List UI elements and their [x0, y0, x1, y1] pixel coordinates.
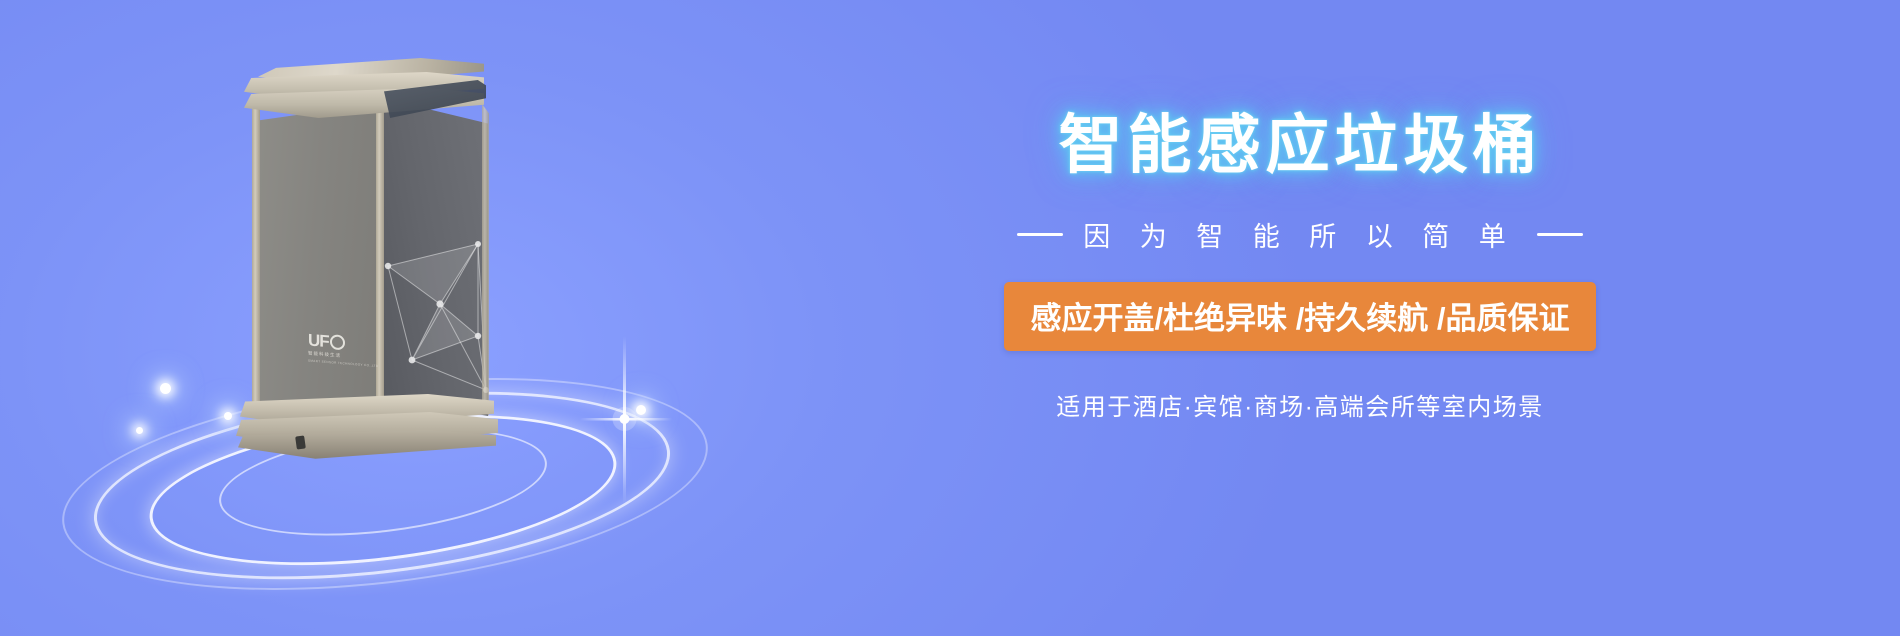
bin-edge-trim-right: [482, 104, 489, 416]
page-title: 智能感应垃圾桶: [1059, 112, 1542, 179]
feature-highlight-badge: 感应开盖/杜绝异味 /持久续航 /品质保证: [1004, 282, 1595, 351]
product-stage: UF 智能科技生活 SMART SENSOR TECHNOLOGY CO.,LT…: [0, 0, 760, 636]
promo-banner: UF 智能科技生活 SMART SENSOR TECHNOLOGY CO.,LT…: [0, 0, 1900, 636]
rule-right-icon: [1537, 233, 1583, 236]
glow-dot-3: [136, 427, 143, 434]
glow-dot-4: [636, 405, 646, 415]
subtitle-text: 因 为 智 能 所 以 简 单: [1083, 215, 1517, 254]
bin-sensor-port: [295, 435, 306, 449]
sparkle-icon: [566, 330, 686, 510]
glow-dot-2: [224, 412, 232, 420]
glow-dot-1: [160, 383, 171, 394]
product-brand-logo: UF 智能科技生活 SMART SENSOR TECHNOLOGY CO.,LT…: [308, 331, 372, 367]
bin-edge-trim-left: [252, 102, 260, 418]
bin-base-band-3: [238, 430, 496, 460]
brand-ring-icon: [330, 334, 345, 350]
low-poly-network-graphic: [382, 208, 492, 408]
subtitle-row: 因 为 智 能 所 以 简 单: [1017, 215, 1583, 254]
brand-wordmark-text: UF: [308, 331, 329, 350]
usage-scenarios-text: 适用于酒店·宾馆·商场·高端会所等室内场景: [1056, 387, 1543, 422]
bin-edge-trim-middle: [376, 98, 384, 418]
marketing-copy-block: 智能感应垃圾桶 因 为 智 能 所 以 简 单 感应开盖/杜绝异味 /持久续航 …: [700, 0, 1900, 636]
trash-bin-render: UF 智能科技生活 SMART SENSOR TECHNOLOGY CO.,LT…: [232, 58, 502, 428]
rule-left-icon: [1017, 233, 1063, 236]
